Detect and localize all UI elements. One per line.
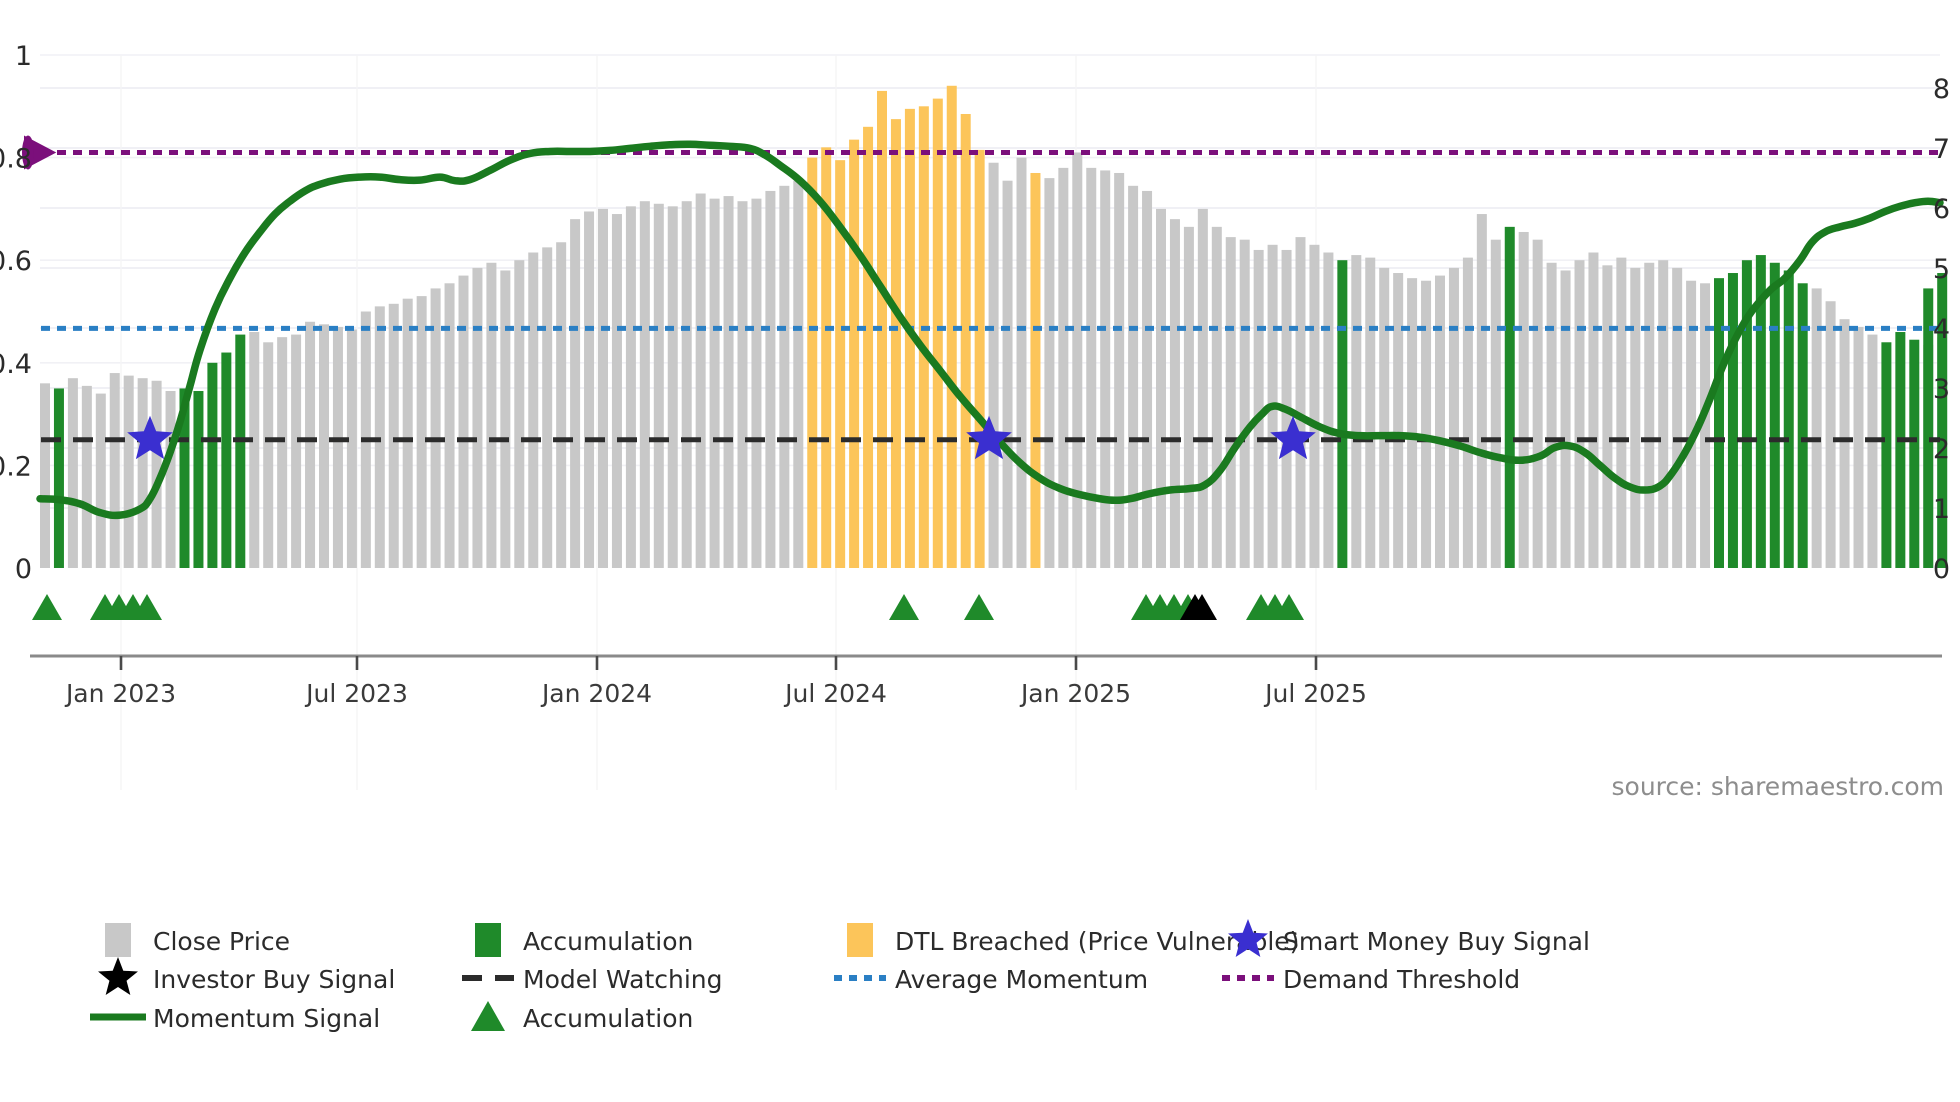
bar-close-price: [500, 270, 510, 568]
bar-accumulation: [1714, 278, 1724, 568]
bar-close-price: [668, 206, 678, 568]
right-axis-tick-label: 6: [1933, 194, 1950, 225]
bar-close-price: [1575, 260, 1585, 568]
x-tick-label: Jan 2023: [64, 679, 176, 708]
bar-close-price: [1867, 335, 1877, 568]
bar-close-price: [1072, 152, 1082, 568]
bar-accumulation: [221, 353, 231, 568]
left-axis-tick-label: 0.8: [0, 144, 32, 175]
bar-dtl-breached: [919, 106, 929, 568]
bar-close-price: [1435, 276, 1445, 568]
bar-close-price: [989, 163, 999, 568]
bar-close-price: [1672, 268, 1682, 568]
bar-accumulation: [1770, 263, 1780, 568]
bar-close-price: [333, 327, 343, 568]
bar-close-price: [738, 201, 748, 568]
bar-close-price: [765, 191, 775, 568]
bar-close-price: [682, 201, 692, 568]
bar-close-price: [1840, 319, 1850, 568]
right-axis-tick-label: 3: [1933, 374, 1950, 405]
bar-accumulation: [54, 388, 64, 568]
bar-accumulation: [1742, 260, 1752, 568]
left-axis-labels: 00.20.40.60.81: [0, 41, 32, 585]
bar-close-price: [1198, 209, 1208, 568]
bar-dtl-breached: [863, 127, 873, 568]
bar-close-price: [1017, 158, 1027, 568]
right-axis-tick-label: 5: [1933, 254, 1950, 285]
bar-dtl-breached: [933, 99, 943, 568]
legend-item-accumulation-bar[interactable]: Accumulation: [475, 923, 693, 957]
right-axis-labels: 012345678: [1933, 74, 1950, 585]
bar-close-price: [1003, 181, 1013, 568]
bar-close-price: [486, 263, 496, 568]
bar-close-price: [403, 299, 413, 568]
bar-accumulation: [1337, 260, 1347, 568]
stock-momentum-chart: Jan 2023Jul 2023Jan 2024Jul 2024Jan 2025…: [0, 0, 1960, 1102]
bar-close-price: [556, 242, 566, 568]
bar-close-price: [1170, 219, 1180, 568]
legend: Close PriceAccumulationDTL Breached (Pri…: [90, 919, 1590, 1033]
legend-item-momentum-signal[interactable]: Momentum Signal: [90, 1004, 380, 1033]
bar-close-price: [110, 373, 120, 568]
legend-label: Accumulation: [523, 927, 693, 956]
bar-dtl-breached: [849, 140, 859, 568]
x-tick-label: Jan 2024: [540, 679, 652, 708]
bar-close-price: [570, 219, 580, 568]
bar-close-price: [779, 186, 789, 568]
bar-close-price: [1212, 227, 1222, 568]
right-axis-tick-label: 8: [1933, 74, 1950, 105]
bar-dtl-breached: [891, 119, 901, 568]
bar-accumulation: [1728, 273, 1738, 568]
accumulation-triangle-markers: [32, 594, 1304, 620]
bar-close-price: [1142, 191, 1152, 568]
bar-accumulation: [193, 391, 203, 568]
bar-accumulation: [1784, 270, 1794, 568]
bar-close-price: [542, 247, 552, 568]
bar-dtl-breached: [975, 150, 985, 568]
x-tick-label: Jul 2025: [1263, 679, 1367, 708]
bar-close-price: [1477, 214, 1487, 568]
bar-close-price: [1854, 327, 1864, 568]
bar-close-price: [375, 306, 385, 568]
bar-close-price: [124, 376, 134, 568]
legend-label: Momentum Signal: [153, 1004, 380, 1033]
bar-close-price: [724, 196, 734, 568]
right-axis-tick-label: 1: [1933, 494, 1950, 525]
legend-item-close-price[interactable]: Close Price: [105, 923, 290, 957]
legend-label: Model Watching: [523, 965, 723, 994]
left-axis-tick-label: 1: [15, 41, 32, 72]
bar-dtl-breached: [961, 114, 971, 568]
right-axis-tick-label: 4: [1933, 314, 1950, 345]
bar-close-price: [528, 253, 538, 568]
bar-close-price: [417, 296, 427, 568]
bar-close-price: [1323, 253, 1333, 568]
bar-close-price: [1128, 186, 1138, 568]
bar-close-price: [1156, 209, 1166, 568]
bar-close-price: [584, 211, 594, 568]
bar-close-price: [166, 391, 176, 568]
right-axis-tick-label: 2: [1933, 434, 1950, 465]
bar-close-price: [1240, 240, 1250, 568]
legend-label: Demand Threshold: [1283, 965, 1520, 994]
chart-root: Jan 2023Jul 2023Jan 2024Jul 2024Jan 2025…: [0, 0, 1960, 1102]
bar-close-price: [1588, 253, 1598, 568]
bar-accumulation: [235, 335, 245, 568]
bar-close-price: [793, 181, 803, 568]
legend-item-demand-threshold[interactable]: Demand Threshold: [1222, 965, 1520, 994]
right-axis-tick-label: 7: [1933, 134, 1950, 165]
bar-close-price: [347, 329, 357, 568]
bar-accumulation: [207, 363, 217, 568]
bar-close-price: [68, 378, 78, 568]
bar-close-price: [654, 204, 664, 568]
bar-close-price: [1086, 168, 1096, 568]
bar-close-price: [305, 322, 315, 568]
x-axis-ticks: Jan 2023Jul 2023Jan 2024Jul 2024Jan 2025…: [64, 656, 1367, 708]
legend-item-accumulation-triangle[interactable]: Accumulation: [471, 1001, 693, 1033]
bar-close-price: [249, 332, 259, 568]
bar-close-price: [1407, 278, 1417, 568]
bar-close-price: [40, 383, 50, 568]
bar-close-price: [751, 199, 761, 568]
x-tick-label: Jan 2025: [1019, 679, 1131, 708]
bar-close-price: [598, 209, 608, 568]
bar-close-price: [472, 268, 482, 568]
source-attribution: source: sharemaestro.com: [1612, 772, 1945, 801]
bar-close-price: [1309, 245, 1319, 568]
legend-label: Accumulation: [523, 1004, 693, 1033]
bar-close-price: [319, 324, 329, 568]
right-axis-tick-label: 0: [1933, 554, 1950, 585]
bar-close-price: [514, 260, 524, 568]
bar-close-price: [96, 394, 106, 568]
legend-item-average-momentum[interactable]: Average Momentum: [834, 965, 1148, 994]
bar-close-price: [1463, 258, 1473, 568]
accumulation-triangle: [889, 594, 919, 620]
legend-item-model-watching[interactable]: Model Watching: [462, 965, 723, 994]
bar-close-price: [1616, 258, 1626, 568]
bar-close-price: [291, 335, 301, 568]
bar-close-price: [1491, 240, 1501, 568]
bar-close-price: [640, 201, 650, 568]
left-axis-tick-label: 0: [15, 554, 32, 585]
bar-close-price: [1644, 263, 1654, 568]
bar-close-price: [1058, 168, 1068, 568]
legend-star-icon: [98, 957, 138, 995]
bar-close-price: [82, 386, 92, 568]
bar-close-price: [1100, 170, 1110, 568]
bar-close-price: [459, 276, 469, 568]
bar-accumulation: [1881, 342, 1891, 568]
legend-swatch-square: [847, 923, 873, 957]
bar-close-price: [626, 206, 636, 568]
bar-close-price: [1393, 273, 1403, 568]
bar-dtl-breached: [1030, 173, 1040, 568]
bar-close-price: [1561, 270, 1571, 568]
bar-close-price: [1826, 301, 1836, 568]
bar-close-price: [1351, 255, 1361, 568]
bar-close-price: [1296, 237, 1306, 568]
x-tick-label: Jul 2024: [783, 679, 887, 708]
bar-close-price: [1686, 281, 1696, 568]
legend-label: Investor Buy Signal: [153, 965, 395, 994]
bar-close-price: [1184, 227, 1194, 568]
accumulation-triangle: [964, 594, 994, 620]
legend-swatch-square: [105, 923, 131, 957]
legend-label: Average Momentum: [895, 965, 1148, 994]
bar-close-price: [1421, 281, 1431, 568]
legend-triangle-icon: [471, 1001, 505, 1031]
bar-accumulation: [1895, 332, 1905, 568]
bar-close-price: [1114, 173, 1124, 568]
bar-close-price: [1044, 178, 1054, 568]
left-axis-tick-label: 0.2: [0, 451, 32, 482]
left-axis-tick-label: 0.6: [0, 246, 32, 277]
bar-close-price: [1547, 263, 1557, 568]
bar-close-price: [1630, 268, 1640, 568]
x-tick-label: Jul 2023: [304, 679, 408, 708]
bar-close-price: [1602, 265, 1612, 568]
bar-close-price: [263, 342, 273, 568]
bar-close-price: [710, 199, 720, 568]
bar-close-price: [1533, 240, 1543, 568]
left-axis-tick-label: 0.4: [0, 349, 32, 380]
bar-dtl-breached: [807, 158, 817, 568]
bar-accumulation: [1909, 340, 1919, 568]
legend-item-investor-buy-signal[interactable]: Investor Buy Signal: [98, 957, 395, 995]
bar-close-price: [1519, 232, 1529, 568]
bar-close-price: [1365, 258, 1375, 568]
bar-close-price: [1226, 237, 1236, 568]
bar-close-price: [1658, 260, 1668, 568]
legend-item-smart-money-buy-signal[interactable]: Smart Money Buy Signal: [1228, 919, 1590, 957]
legend-swatch-square: [475, 923, 501, 957]
bar-close-price: [612, 214, 622, 568]
bar-close-price: [1379, 268, 1389, 568]
legend-label: Close Price: [153, 927, 290, 956]
bar-accumulation: [1505, 227, 1515, 568]
legend-item-dtl-breached[interactable]: DTL Breached (Price Vulnerable): [847, 923, 1299, 957]
bar-close-price: [138, 378, 148, 568]
bar-close-price: [1449, 268, 1459, 568]
legend-label: Smart Money Buy Signal: [1283, 927, 1590, 956]
bar-close-price: [277, 337, 287, 568]
bar-close-price: [696, 194, 706, 568]
accumulation-triangle: [32, 594, 62, 620]
bar-close-price: [389, 304, 399, 568]
